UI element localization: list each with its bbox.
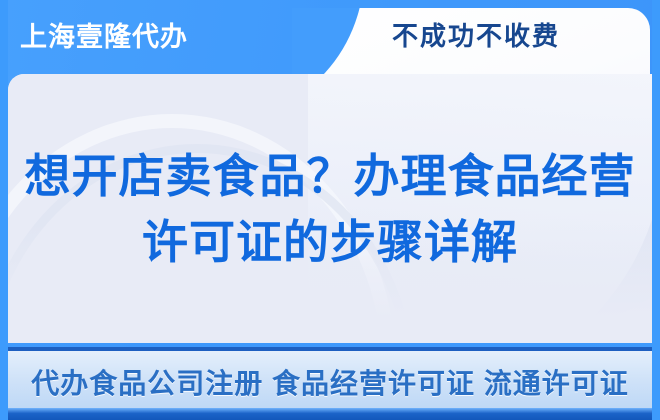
keyword-bar: 代办食品公司注册 食品经营许可证 流通许可证 bbox=[8, 347, 652, 412]
promo-banner: 上海壹隆代办 不成功不收费 想开店卖食品？办理食品经营 许可证的步骤详解 代办食… bbox=[0, 0, 660, 420]
brand-logo-text: 上海壹隆代办 bbox=[20, 19, 188, 55]
bottom-edge-strip bbox=[0, 408, 660, 420]
slogan-text: 不成功不收费 bbox=[392, 18, 560, 54]
card-bottom-fade bbox=[8, 224, 652, 343]
keyword-bar-text: 代办食品公司注册 食品经营许可证 流通许可证 bbox=[31, 362, 629, 402]
main-content-card bbox=[8, 74, 652, 343]
frame-left-strip bbox=[0, 0, 8, 420]
frame-right-strip bbox=[652, 0, 660, 420]
